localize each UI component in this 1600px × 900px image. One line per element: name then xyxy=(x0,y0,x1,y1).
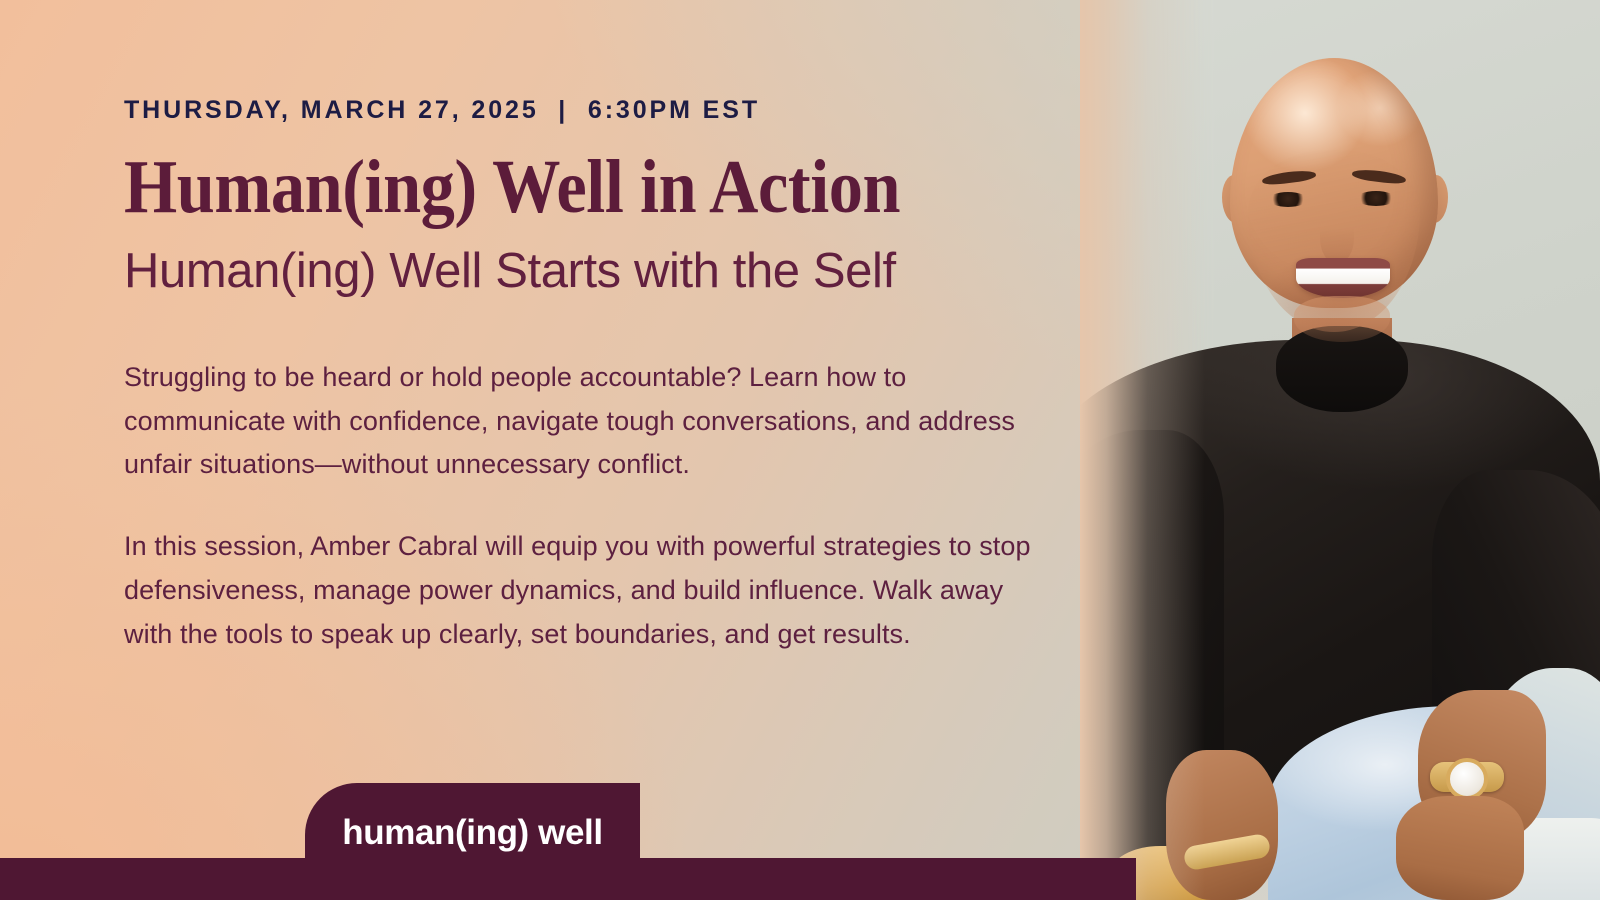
photo-left-forearm xyxy=(1166,750,1278,900)
speaker-portrait-photo xyxy=(1080,0,1600,900)
page-title: Human(ing) Well in Action xyxy=(124,151,988,224)
brand-logo-text: human(ing) well xyxy=(342,813,602,853)
brand-logo-badge: human(ing) well xyxy=(305,783,640,900)
event-description-paragraph: In this session, Amber Cabral will equip… xyxy=(124,525,1054,656)
photo-left-eye xyxy=(1268,192,1308,207)
event-content-column: THURSDAY, MARCH 27, 2025 | 6:30PM EST Hu… xyxy=(124,0,1084,656)
event-date-time: THURSDAY, MARCH 27, 2025 | 6:30PM EST xyxy=(124,96,1084,125)
event-subtitle: Human(ing) Well Starts with the Self xyxy=(124,246,1084,298)
photo-nose xyxy=(1320,212,1354,264)
event-description-paragraph: Struggling to be heard or hold people ac… xyxy=(124,356,1054,487)
photo-right-hand xyxy=(1396,796,1524,900)
photo-smile xyxy=(1296,258,1390,298)
photo-right-eye xyxy=(1356,191,1396,206)
photo-chin xyxy=(1294,296,1390,342)
photo-watch-face xyxy=(1446,758,1488,800)
